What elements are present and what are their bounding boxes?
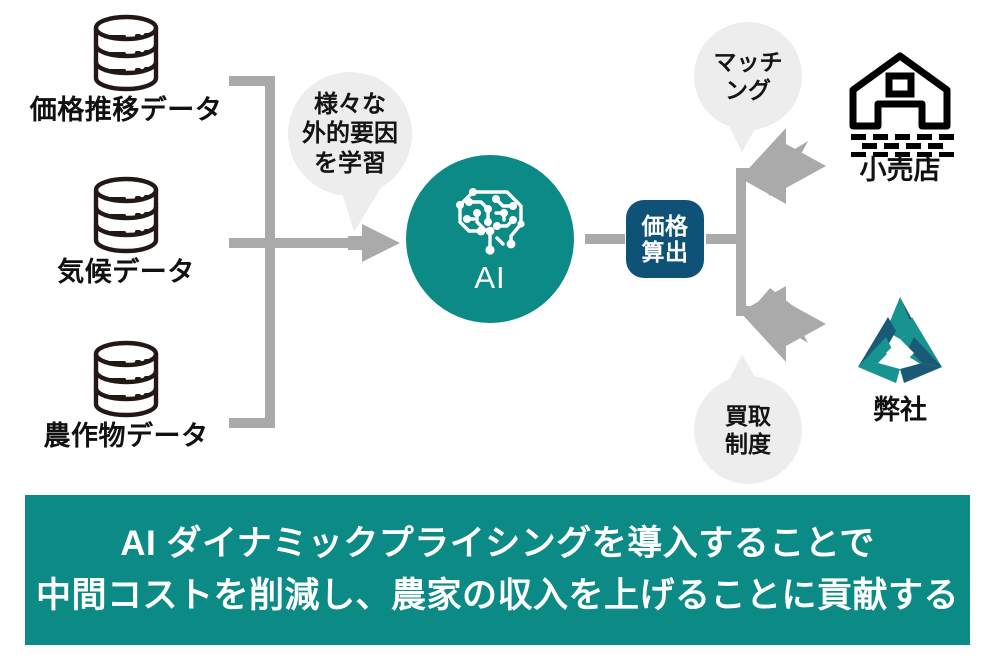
outcome-retail-store: 小売店 <box>810 48 990 186</box>
price-calculation-box: 価格 算出 <box>626 200 704 278</box>
bubble-line: 外的要因 <box>302 119 398 148</box>
source-climate-data: 気候データ <box>6 172 246 288</box>
banner-line-1: AI ダイナミックプライシングを導入することで <box>120 518 874 571</box>
source-crop-data: 農作物データ <box>6 336 246 452</box>
connector-ai-to-price <box>585 234 625 244</box>
bubble-line: 制度 <box>725 430 771 458</box>
database-icon <box>6 10 246 96</box>
outcome-our-company: 弊社 <box>810 288 990 426</box>
bubble-tail-learning <box>340 186 400 238</box>
ai-label: AI <box>474 260 505 296</box>
banner-line-2: 中間コストを削減し、農家の収入を上げることに貢献する <box>36 570 959 623</box>
company-triangle-logo <box>810 288 990 396</box>
bubble-tail-matching <box>726 120 770 156</box>
source-label: 価格推移データ <box>26 96 227 126</box>
source-label: 農作物データ <box>40 422 213 452</box>
price-box-line: 算出 <box>642 239 689 265</box>
summary-banner: AI ダイナミックプライシングを導入することで 中間コストを削減し、農家の収入を… <box>25 495 970 645</box>
database-icon <box>6 172 246 258</box>
bubble-line: 様々な <box>314 90 386 119</box>
price-box-line: 価格 <box>642 213 689 239</box>
bubble-line: 買取 <box>725 402 771 430</box>
bubble-line: マッチ <box>714 48 783 76</box>
external-factors-bubble: 様々な 外的要因 を学習 <box>288 72 412 196</box>
buyback-bubble: 買取 制度 <box>694 376 802 484</box>
outcome-label: 小売店 <box>854 156 947 186</box>
ai-node: AI <box>406 155 574 323</box>
outcome-label: 弊社 <box>867 396 933 426</box>
circuit-brain-icon <box>447 182 533 258</box>
database-icon <box>6 336 246 422</box>
bubble-line: ング <box>725 76 771 104</box>
bubble-tail-buyback <box>726 352 770 388</box>
matching-bubble: マッチ ング <box>694 22 802 130</box>
bubble-line: を学習 <box>314 149 386 178</box>
source-label: 気候データ <box>53 258 199 288</box>
source-price-trend-data: 価格推移データ <box>6 10 246 126</box>
store-barn-icon <box>810 48 990 156</box>
diagram-canvas: 価格推移データ <box>0 0 1000 668</box>
